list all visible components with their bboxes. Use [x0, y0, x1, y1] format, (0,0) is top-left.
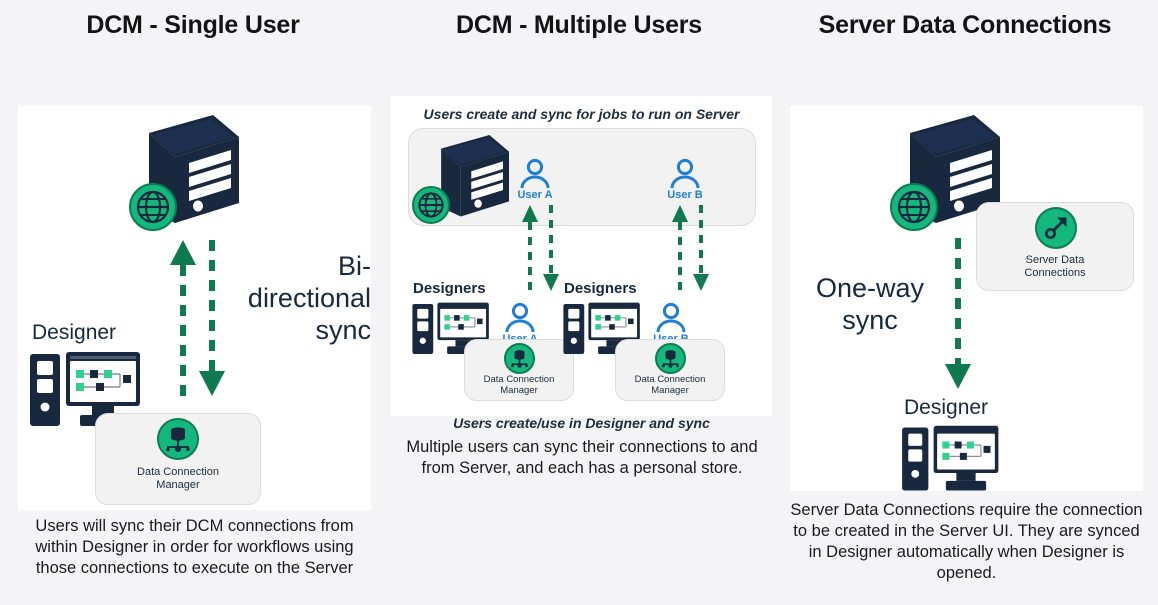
sync-line-2: sync [800, 304, 940, 336]
panel-dcm-single-user: DCM - Single User [0, 0, 386, 605]
panel-caption-server-data-connections: Server Data Connections require the conn… [790, 500, 1143, 584]
user-person-icon [669, 158, 701, 188]
panel-card-server-data-connections: Server Data Connections One-way sync [790, 106, 1143, 491]
server-data-connections-icon [1035, 207, 1077, 249]
designer-workstation-icon [900, 424, 1004, 494]
designer-label: Designer [904, 396, 988, 420]
user-person-icon [504, 302, 536, 332]
data-connection-manager-icon [157, 418, 199, 460]
diagram-board: DCM - Single User [0, 0, 1158, 605]
dcm-label-line-2: Manager [96, 479, 260, 493]
sdc-label-line-1: Server Data [977, 254, 1133, 268]
user-person-icon [519, 158, 551, 188]
globe-icon [412, 186, 450, 224]
user-person-icon [655, 302, 687, 332]
dcm-label-line-2: Manager [465, 385, 573, 397]
annotation-bottom: Users create/use in Designer and sync [391, 415, 772, 431]
dashed-arrow-down-icon [945, 236, 971, 391]
sync-direction-label: One-way sync [800, 272, 940, 336]
globe-icon [890, 183, 938, 231]
user-b-label: User B [653, 189, 717, 201]
panel-title-server-data-connections: Server Data Connections [772, 11, 1158, 40]
sync-direction-label: Bi- directional sync [233, 250, 371, 346]
panel-title-single-user: DCM - Single User [0, 11, 386, 40]
sdc-label-line-2: Connections [977, 267, 1133, 281]
dcm-label-line-1: Data Connection [616, 374, 724, 386]
dashed-arrow-up-icon [672, 204, 688, 292]
designers-label-b: Designers [564, 280, 637, 297]
panel-caption-single-user: Users will sync their DCM connections fr… [18, 516, 371, 579]
dcm-label-line-1: Data Connection [465, 374, 573, 386]
data-connection-manager-icon [655, 343, 686, 374]
user-a-label: User A [503, 189, 567, 201]
panel-server-data-connections: Server Data Connections [772, 0, 1158, 605]
designers-label-a: Designers [413, 280, 486, 297]
globe-icon [129, 183, 177, 231]
panel-card-single-user: Bi- directional sync Designer [18, 106, 371, 510]
panel-dcm-multiple-users: DCM - Multiple Users Users create and sy… [386, 0, 772, 605]
panel-caption-multiple-users: Multiple users can sync their connection… [406, 437, 758, 479]
dcm-label-line-2: Manager [616, 385, 724, 397]
panel-title-multiple-users: DCM - Multiple Users [386, 11, 772, 40]
panel-card-multiple-users: Users create and sync for jobs to run on… [391, 96, 772, 416]
sync-line-1: Bi- [233, 250, 371, 282]
dashed-arrow-up-icon [522, 204, 538, 292]
dashed-arrow-down-icon [693, 204, 709, 292]
sync-line-3: sync [233, 314, 371, 346]
dashed-arrow-up-icon [170, 238, 196, 398]
dashed-arrow-down-icon [543, 204, 559, 292]
sync-line-2: directional [233, 282, 371, 314]
dcm-label-line-1: Data Connection [96, 466, 260, 480]
data-connection-manager-icon [504, 343, 535, 374]
designer-label: Designer [32, 321, 116, 345]
dashed-arrow-down-icon [199, 238, 225, 398]
annotation-top: Users create and sync for jobs to run on… [391, 106, 772, 122]
sync-line-1: One-way [800, 272, 940, 304]
